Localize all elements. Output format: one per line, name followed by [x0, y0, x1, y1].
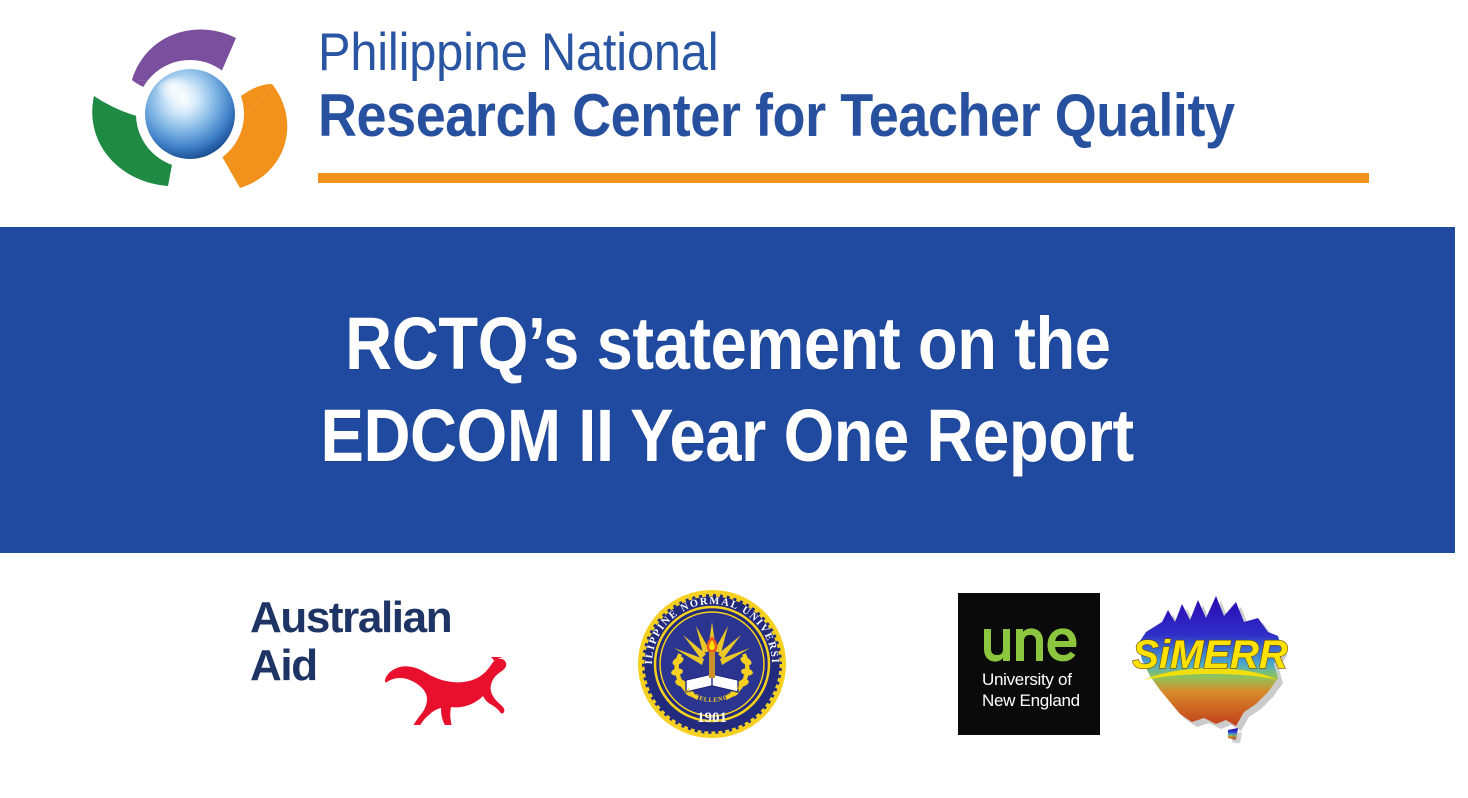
rctq-emblem-icon — [76, 22, 306, 190]
philippine-normal-university-seal: PHILIPPINE NORMAL UNIVERSITY TRUTH · EXC… — [636, 588, 788, 740]
simerr-logo: SiMERR — [1128, 588, 1288, 743]
header-band: Philippine National Research Center for … — [0, 0, 1468, 212]
simerr-wordmark-text: SiMERR — [1132, 633, 1288, 677]
wordmark-line-1: Philippine National — [318, 24, 1302, 82]
une-subtitle-line-2: New England — [982, 690, 1092, 711]
slide-root: Philippine National Research Center for … — [0, 0, 1468, 798]
australian-aid-line-1: Australian — [250, 594, 530, 642]
une-subtitle: University of New England — [982, 669, 1092, 711]
banner-title-line-1: RCTQ’s statement on the — [345, 301, 1110, 387]
kangaroo-icon — [355, 645, 530, 725]
une-subtitle-line-1: University of — [982, 669, 1092, 690]
partner-logo-row: Australian Aid — [0, 553, 1468, 798]
australian-aid-logo: Australian Aid — [250, 594, 530, 704]
banner-title-line-2: EDCOM II Year One Report — [321, 393, 1134, 479]
banner-title-block: RCTQ’s statement on the EDCOM II Year On… — [0, 227, 1455, 553]
wordmark-line-2: Research Center for Teacher Quality — [318, 84, 1281, 148]
seal-year-text: 1901 — [697, 710, 727, 726]
organization-wordmark: Philippine National Research Center for … — [318, 24, 1388, 189]
header-orange-rule — [318, 173, 1369, 183]
une-wordmark-icon — [982, 617, 1078, 663]
title-banner: RCTQ’s statement on the EDCOM II Year On… — [0, 227, 1455, 553]
university-of-new-england-logo: University of New England — [958, 593, 1100, 735]
